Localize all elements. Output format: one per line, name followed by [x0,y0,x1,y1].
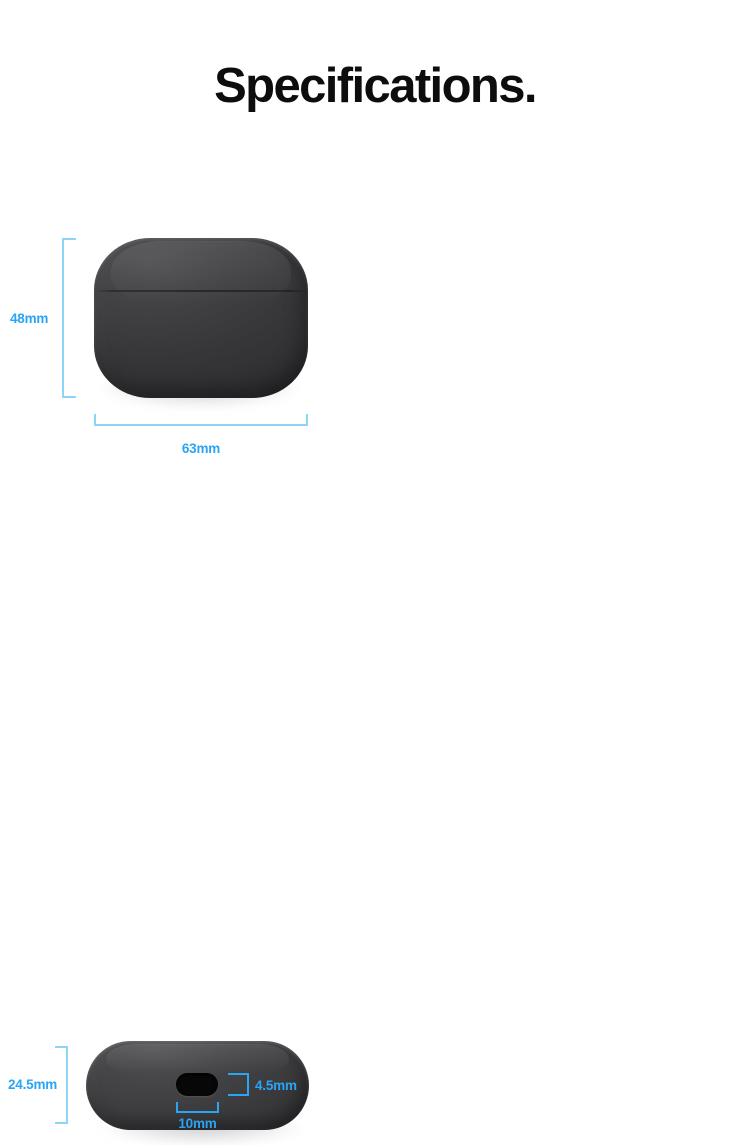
port-width-dimension-label: 10mm [155,1116,240,1131]
height-dimension-label: 48mm [10,311,48,326]
port-width-dimension-bracket [176,1102,219,1113]
bottom-view: 24.5mm 10mm 4.5mm [0,500,340,680]
charging-port [176,1073,218,1096]
port-height-dimension-label: 4.5mm [255,1078,297,1093]
width-dimension-label: 63mm [0,441,402,456]
width-dimension-bracket [94,414,308,426]
port-height-dimension-bracket [228,1073,249,1096]
front-view: 48mm 63mm [0,0,340,470]
height-dimension-bracket [62,238,76,398]
back-view: No Hinge Designed by elago Made in Korea… [400,0,750,470]
front-case-body [94,238,308,398]
front-case-lid-seam [94,290,308,292]
depth-dimension-label: 24.5mm [8,1077,57,1092]
